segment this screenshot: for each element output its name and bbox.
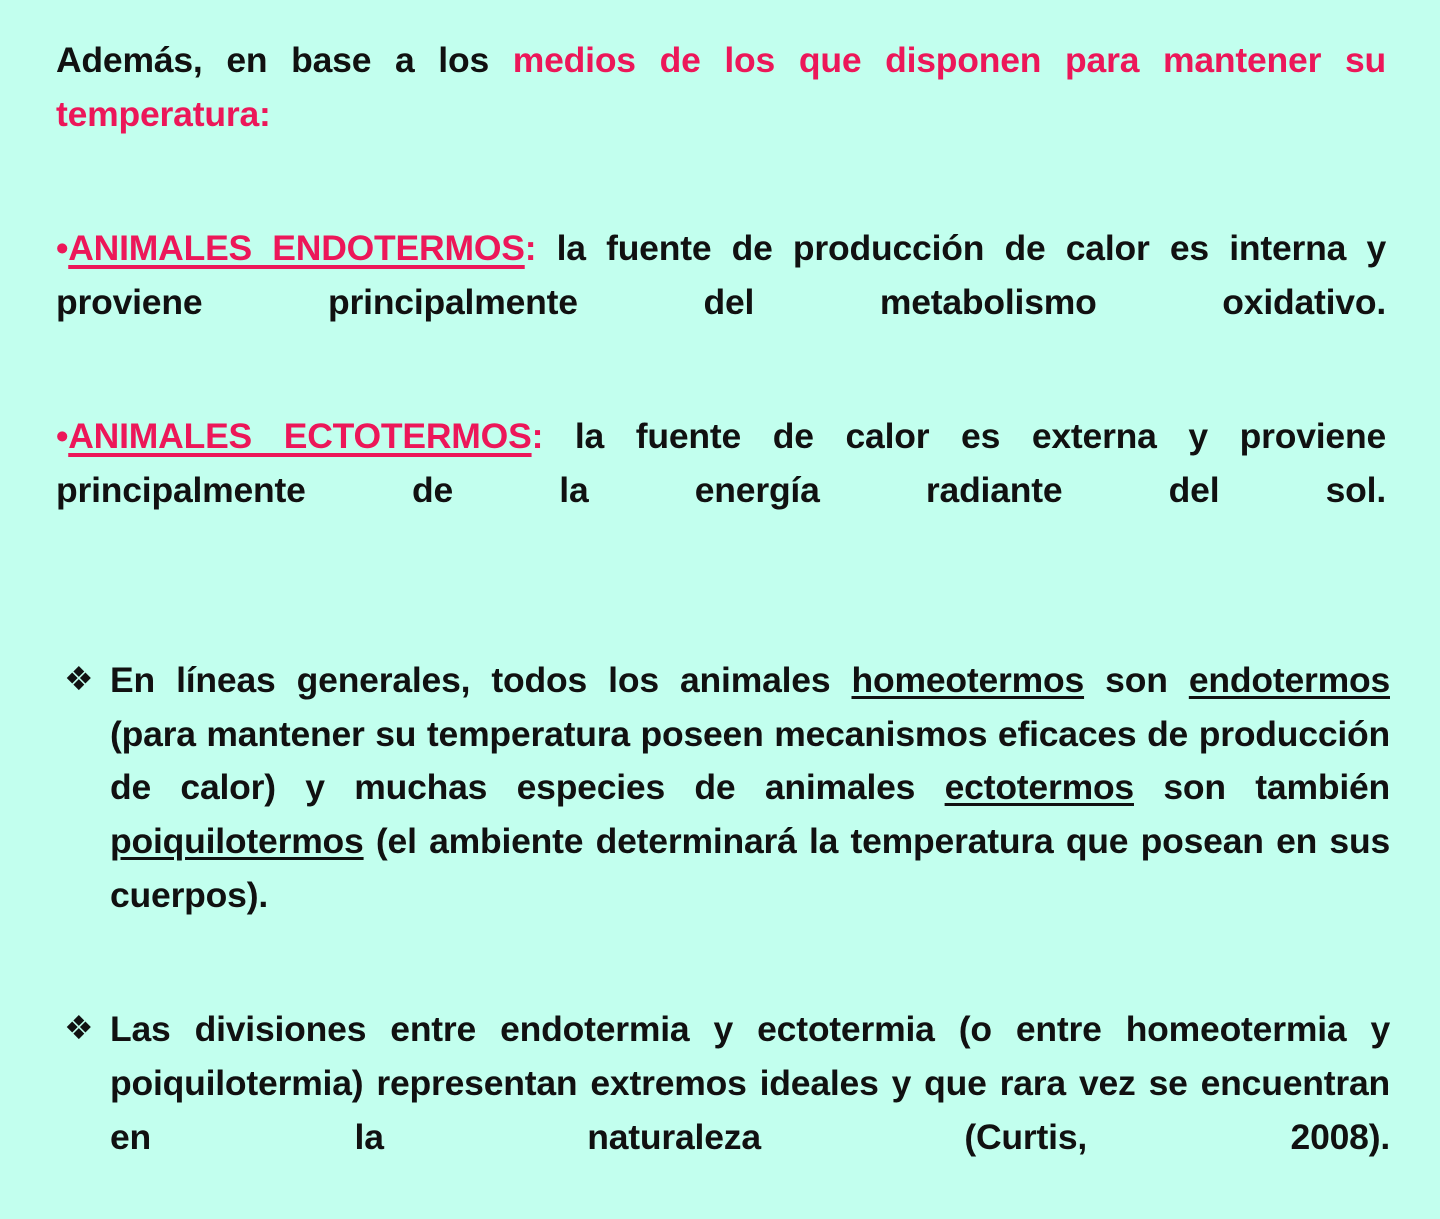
bullet-dot-icon: • bbox=[56, 416, 68, 456]
bullet-endotermos: •ANIMALES ENDOTERMOS: la fuente de produ… bbox=[56, 222, 1386, 384]
segment-plain: Las divisiones entre endotermia y ectote… bbox=[110, 1009, 1390, 1157]
heading-lead-text: Además, en base a los bbox=[56, 40, 513, 80]
segment-plain: En líneas generales, todos los animales bbox=[110, 660, 852, 700]
bullet-colon-ectotermos: : bbox=[532, 416, 544, 456]
slide-canvas: Además, en base a los medios de los que … bbox=[0, 0, 1440, 1080]
diamond-point-generalidades: ❖ En líneas generales, todos los animale… bbox=[56, 654, 1390, 978]
diamond-bullet-icon: ❖ bbox=[56, 654, 110, 704]
diamond-bullet-icon: ❖ bbox=[56, 1003, 110, 1053]
diamond-point-divisiones: ❖ Las divisiones entre endotermia y ecto… bbox=[56, 1003, 1390, 1219]
bullet-ectotermos: •ANIMALES ECTOTERMOS: la fuente de calor… bbox=[56, 410, 1386, 572]
bullet-term-endotermos: ANIMALES ENDOTERMOS bbox=[68, 228, 524, 268]
segment-underline-poiquilotermos: poiquilotermos bbox=[110, 821, 364, 861]
segment-plain: son bbox=[1084, 660, 1189, 700]
bullet-dot-icon: • bbox=[56, 228, 68, 268]
slide-heading: Además, en base a los medios de los que … bbox=[56, 34, 1386, 196]
vertical-spacer bbox=[56, 598, 1384, 654]
diamond-point-text-2: Las divisiones entre endotermia y ectote… bbox=[110, 1003, 1390, 1219]
segment-underline-homeotermos: homeotermos bbox=[852, 660, 1085, 700]
segment-plain: son también bbox=[1134, 767, 1390, 807]
segment-underline-ectotermos: ectotermos bbox=[945, 767, 1134, 807]
diamond-point-text-1: En líneas generales, todos los animales … bbox=[110, 654, 1390, 978]
bullet-term-ectotermos: ANIMALES ECTOTERMOS bbox=[68, 416, 531, 456]
segment-underline-endotermos: endotermos bbox=[1189, 660, 1390, 700]
bullet-colon-endotermos: : bbox=[525, 228, 537, 268]
